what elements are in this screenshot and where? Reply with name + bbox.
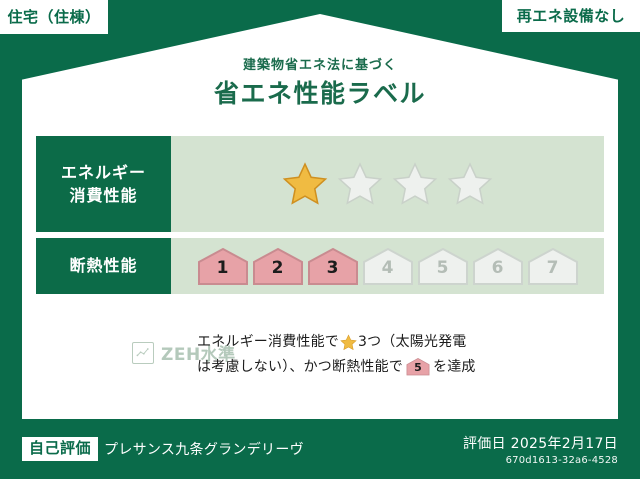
performance-rows: エネルギー 消費性能 断熱性能 1234567 [36,136,604,300]
zeh-standard-mark: ZEH水準 [36,330,171,365]
insulation-performance-row: 断熱性能 1234567 [36,238,604,294]
note-section: ZEH水準 エネルギー消費性能で 3つ（太陽光発電 は考慮しない）、かつ断熱性能… [36,330,604,379]
evaluation-date: 評価日 2025年2月17日 [463,433,618,453]
title-block: 建築物省エネ法に基づく 省エネ性能ラベル [0,58,640,109]
building-name: プレサンス九条グランデリーヴ [104,439,304,459]
insulation-badge-value: 6 [492,260,504,286]
insulation-performance-value: 1234567 [171,238,604,294]
achievement-note: エネルギー消費性能で 3つ（太陽光発電 は考慮しない）、かつ断熱性能で 5 を達… [197,330,476,379]
note-line2-before: は考慮しない）、かつ断熱性能で [197,355,403,380]
energy-performance-value [171,136,604,232]
star-icon-empty [337,161,383,207]
star-icon-filled [282,161,328,207]
insulation-badge-4: 4 [362,246,414,286]
footer-right: 評価日 2025年2月17日 670d1613-32a6-4528 [463,433,618,466]
energy-performance-label: エネルギー 消費性能 [36,136,171,232]
evaluation-id: 670d1613-32a6-4528 [463,455,618,466]
insulation-performance-label: 断熱性能 [36,238,171,294]
insulation-badge-5: 5 [417,246,469,286]
zeh-chart-icon [132,342,154,364]
self-evaluation-badge: 自己評価 [22,437,98,460]
star-rating [282,161,493,207]
page-title: 省エネ性能ラベル [0,78,640,109]
insulation-badge-value: 3 [327,260,339,286]
achievement-note-line-2: は考慮しない）、かつ断熱性能で 5 を達成 [197,355,476,380]
insulation-badge-value: 1 [217,260,229,286]
insulation-badge-7: 7 [527,246,579,286]
insulation-grade-mini-value: 5 [414,362,422,376]
star-icon-empty [447,161,493,207]
renewable-equipment-tag: 再エネ設備なし [502,0,640,32]
insulation-grade-mini-badge: 5 [406,357,430,376]
insulation-badge-6: 6 [472,246,524,286]
star-icon-empty [392,161,438,207]
title-subtitle: 建築物省エネ法に基づく [0,58,640,74]
insulation-badge-value: 5 [437,260,449,286]
building-type-tag: 住宅（住棟） [0,0,108,34]
footer-left: 自己評価 プレサンス九条グランデリーヴ [22,437,304,460]
note-line2-after: を達成 [433,355,476,380]
insulation-badge-value: 4 [382,260,394,286]
energy-performance-row: エネルギー 消費性能 [36,136,604,232]
footer: 自己評価 プレサンス九条グランデリーヴ 評価日 2025年2月17日 670d1… [0,419,640,479]
insulation-badge-2: 2 [252,246,304,286]
energy-label-line-1: エネルギー [61,161,146,184]
insulation-badge-value: 7 [547,260,559,286]
note-line1-before: エネルギー消費性能で [197,330,339,355]
note-line1-after: 3つ（太陽光発電 [358,330,467,355]
insulation-badge-3: 3 [307,246,359,286]
achievement-note-line-1: エネルギー消費性能で 3つ（太陽光発電 [197,330,476,355]
insulation-badge-1: 1 [197,246,249,286]
insulation-badge-value: 2 [272,260,284,286]
energy-label-line-2: 消費性能 [61,184,146,207]
insulation-badge-list: 1234567 [197,246,579,286]
star-icon [340,334,357,351]
energy-performance-label: 住宅（住棟） 再エネ設備なし 建築物省エネ法に基づく 省エネ性能ラベル エネルギ… [0,0,640,479]
